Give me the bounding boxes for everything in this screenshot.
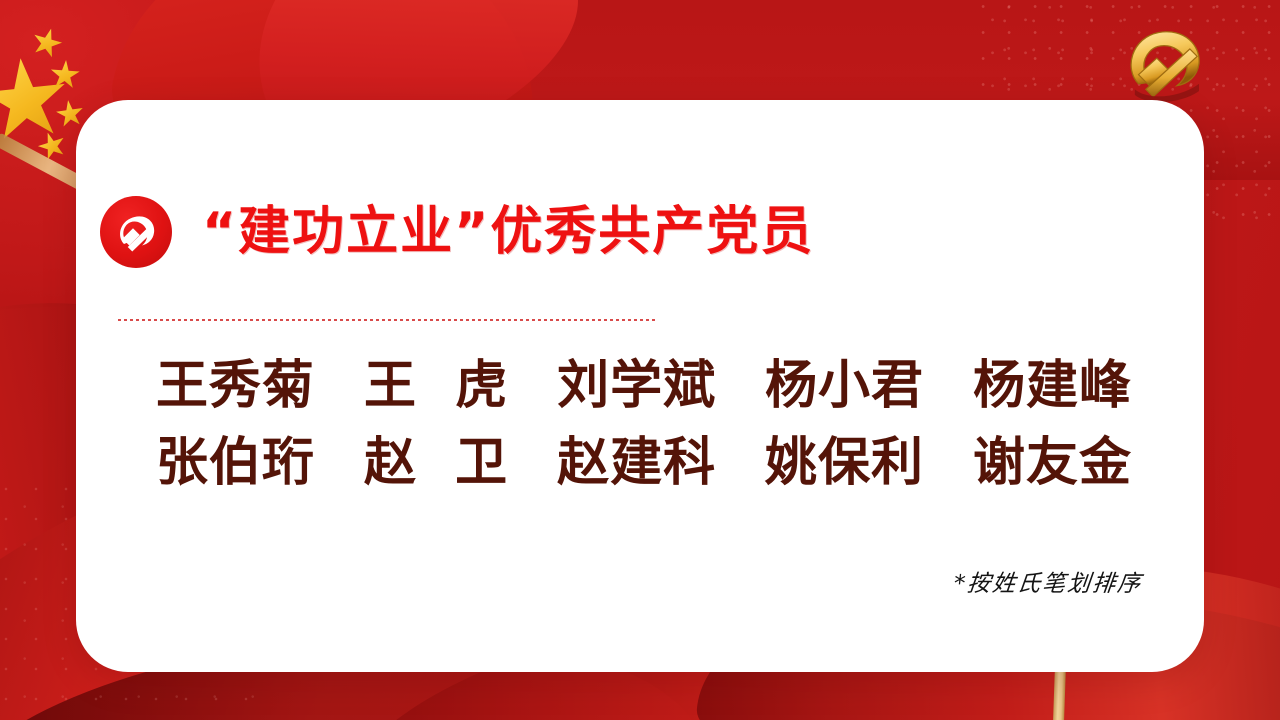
honoree-name: 王 虎 <box>364 355 508 416</box>
honoree-name: 杨建峰 <box>973 355 1132 416</box>
hammer-and-sickle-icon <box>112 208 160 256</box>
title-row: “建功立业”优秀共产党员 <box>100 196 814 268</box>
gold-hammer-and-sickle-icon <box>1110 16 1222 104</box>
honoree-name: 赵 卫 <box>364 432 508 493</box>
honoree-name: 张伯珩 <box>156 432 315 493</box>
name-row: 王秀菊 王 虎 刘学斌 杨小君 杨建峰 <box>118 355 1168 416</box>
footnote-sort-note: *按姓氏笔划排序 <box>952 564 1144 598</box>
dotted-divider <box>118 319 656 321</box>
party-emblem-badge <box>100 196 172 268</box>
honoree-name-list: 王秀菊 王 虎 刘学斌 杨小君 杨建峰 张伯珩 赵 卫 赵建科 姚保利 谢友金 <box>118 355 1168 510</box>
honoree-name: 姚保利 <box>765 432 924 493</box>
name-row: 张伯珩 赵 卫 赵建科 姚保利 谢友金 <box>118 432 1168 493</box>
honoree-name: 刘学斌 <box>557 355 716 416</box>
honoree-name: 谢友金 <box>973 432 1132 493</box>
honoree-name: 杨小君 <box>765 355 924 416</box>
content-card: “建功立业”优秀共产党员 王秀菊 王 虎 刘学斌 杨小君 杨建峰 张伯珩 赵 卫… <box>76 100 1204 672</box>
honoree-name: 赵建科 <box>557 432 716 493</box>
honoree-name: 王秀菊 <box>156 355 315 416</box>
slide-canvas: “建功立业”优秀共产党员 王秀菊 王 虎 刘学斌 杨小君 杨建峰 张伯珩 赵 卫… <box>0 0 1280 720</box>
page-title: “建功立业”优秀共产党员 <box>202 206 814 258</box>
